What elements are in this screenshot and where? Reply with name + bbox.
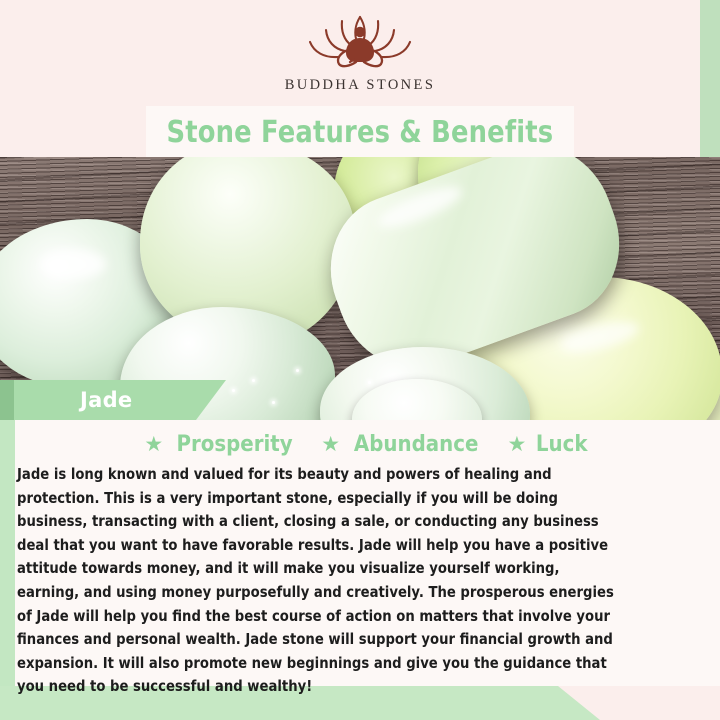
sparkle-icon [272,401,275,404]
stone-name: Jade [80,388,132,412]
sparkle-icon [368,381,371,384]
benefits-row: ★ Prosperity ★ Abundance ★ Luck [15,432,720,457]
infographic-page: BUDDHA STONES Stone Features & Benefits … [0,0,720,720]
benefit-item: ★ Luck [507,432,590,457]
brand-logo: BUDDHA STONES [0,12,720,102]
description-card: ★ Prosperity ★ Abundance ★ Luck Jade is … [15,420,720,686]
star-icon: ★ [507,434,526,455]
stone-highlight [40,249,106,279]
sparkle-icon [252,379,255,382]
lotus-meditation-icon [294,12,426,74]
benefit-label: Prosperity [177,432,293,457]
benefit-label: Luck [536,432,588,457]
benefit-item: ★ Abundance [321,432,485,457]
page-title: Stone Features & Benefits [167,115,554,150]
stone-photo: Jade [0,157,720,420]
star-icon: ★ [321,434,340,455]
brand-name: BUDDHA STONES [285,77,436,94]
band-accent [0,380,14,420]
sparkle-icon [232,389,235,392]
benefit-item: ★ Prosperity [144,432,299,457]
title-banner: Stone Features & Benefits [146,106,574,158]
description-text: Jade is long known and valued for its be… [17,463,624,699]
sparkle-icon [296,369,299,372]
star-icon: ★ [144,434,163,455]
stone-name-band: Jade [0,380,226,420]
benefit-label: Abundance [354,432,478,457]
